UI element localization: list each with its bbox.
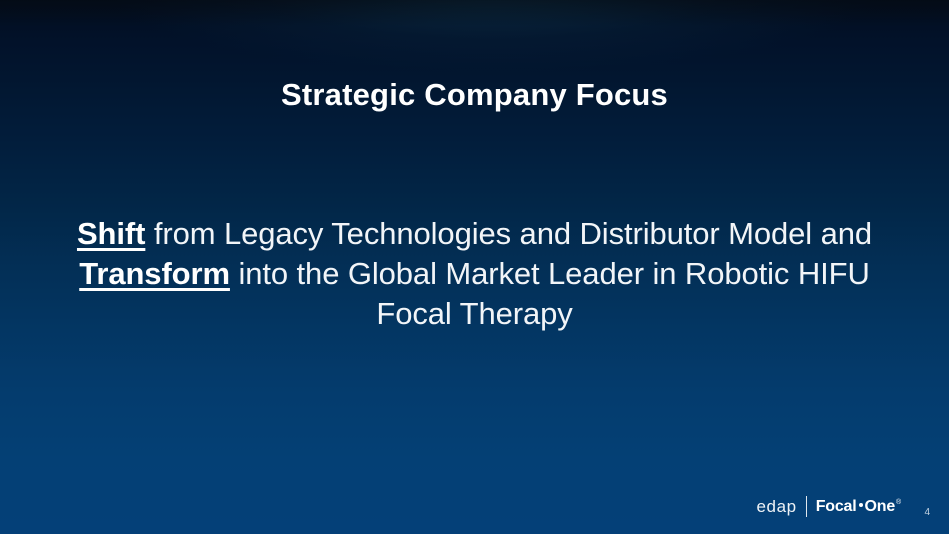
focal-one-word-one: One	[865, 499, 896, 515]
focal-one-logo-wordmark: Focal One ®	[816, 499, 901, 515]
emphasized-word-shift: Shift	[77, 216, 145, 251]
logo-divider-icon	[806, 496, 807, 517]
slide-body-text: Shift from Legacy Technologies and Distr…	[70, 214, 879, 334]
brand-logo-lockup: edap Focal One ®	[756, 496, 901, 517]
page-title: Strategic Company Focus	[0, 77, 949, 113]
page-number: 4	[924, 507, 930, 518]
presentation-slide: Strategic Company Focus Shift from Legac…	[0, 0, 949, 534]
body-text-segment-3: into the Global Market Leader in Robotic…	[230, 256, 870, 331]
registered-trademark-icon: ®	[896, 499, 901, 506]
edap-logo-wordmark: edap	[756, 498, 796, 516]
emphasized-word-transform: Transform	[79, 256, 230, 291]
focal-one-separator-dot-icon	[859, 503, 863, 507]
body-text-segment-1: from Legacy Technologies and Distributor…	[145, 216, 872, 251]
focal-one-word-focal: Focal	[816, 499, 857, 515]
